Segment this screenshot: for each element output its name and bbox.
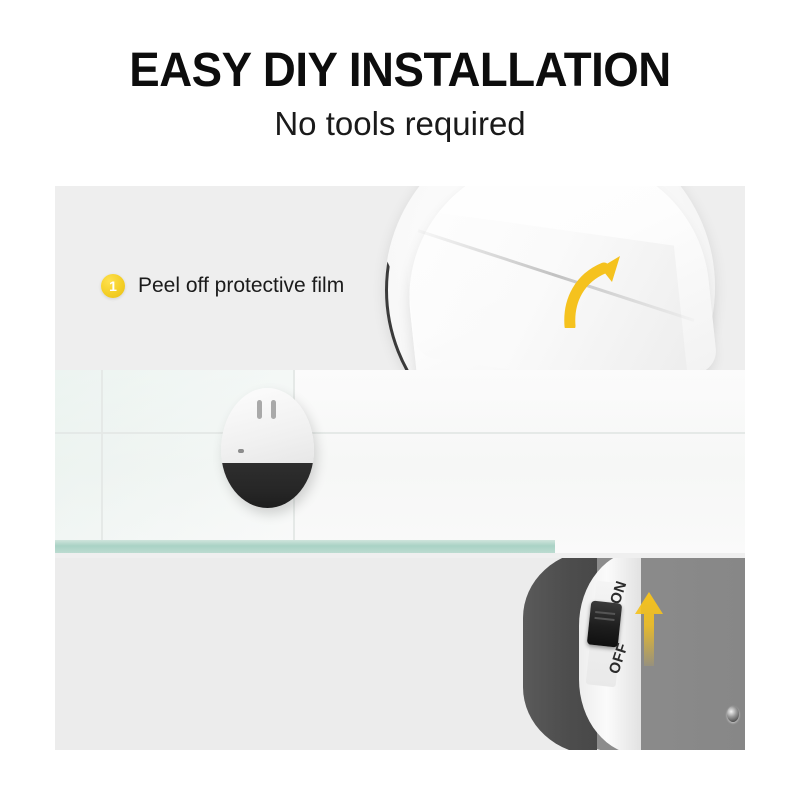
step-1-illustration: 1 Peel off protective film	[55, 186, 745, 370]
sensor-led-indicator	[238, 449, 244, 453]
step-2-illustration: 2 Stick to window or door	[55, 370, 745, 558]
step-1-caption: 1 Peel off protective film	[101, 274, 344, 300]
page-title: EASY DIY INSTALLATION	[20, 46, 780, 96]
page-subtitle: No tools required	[0, 106, 800, 142]
product-infographic: EASY DIY INSTALLATION No tools required …	[0, 0, 800, 800]
sensor-dark-base	[221, 463, 314, 508]
screw-hole	[727, 706, 739, 722]
frame-seam-horizontal	[55, 432, 745, 434]
step-1-badge: 1	[101, 274, 125, 298]
sensor-speaker-slot-right	[271, 400, 276, 419]
sensor-speaker-slot-left	[257, 400, 262, 419]
frame-seam-vertical-left	[101, 370, 103, 540]
curved-up-arrow-icon	[560, 250, 630, 328]
header: EASY DIY INSTALLATION No tools required	[0, 46, 800, 143]
glass-edge	[55, 540, 555, 553]
step-3-illustration: ON OFF 3 Push the on/off button to activ…	[55, 558, 745, 750]
step-1-label: Peel off protective film	[138, 273, 344, 300]
door-window-sensor	[221, 388, 314, 508]
steps-board: 1 Peel off protective film 2 Stick to wi…	[55, 186, 745, 750]
straight-up-arrow-icon	[633, 588, 665, 666]
